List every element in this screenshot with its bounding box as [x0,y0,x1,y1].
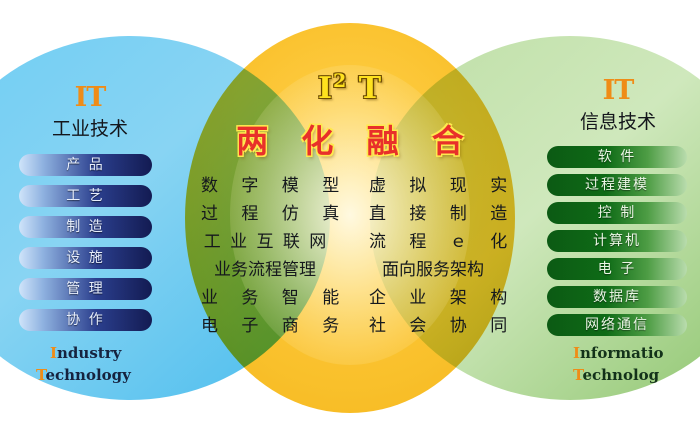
left-en-line2-rest: echnology [45,366,130,384]
pill-label: 设 施 [66,251,104,265]
center-item: 工 业 互 联 网 [192,228,338,256]
list-item[interactable]: 计算机 [547,230,687,252]
center-item: 企 业 架 构 [360,284,506,312]
left-en-line1: Industry [50,344,121,362]
list-item[interactable]: 工 艺 [19,185,152,207]
pill-label: 电 子 [598,262,636,276]
pill-label: 协 作 [66,313,104,327]
left-en-line2: Technology [36,366,131,384]
pill-label: 制 造 [66,220,104,234]
center-i2t-t: T [359,71,382,106]
pill-label: 计算机 [593,234,641,248]
right-en-line1: Informatio [573,344,664,362]
center-right-column: 虚 拟 现 实 直 接 制 造 流 程 ｅ 化 面向服务架构 企 业 架 构 社… [360,172,506,340]
pill-label: 过程建模 [585,178,649,192]
list-item[interactable]: 数据库 [547,286,687,308]
list-item[interactable]: 过程建模 [547,174,687,196]
right-en-line2: Technolog [573,366,659,384]
center-item: 虚 拟 现 实 [360,172,506,200]
center-main-title: 两 化 融 合 [0,116,700,162]
pill-label: 控 制 [598,206,636,220]
left-en-line1-rest: ndustry [57,344,121,362]
center-left-column: 数 字 模 型 过 程 仿 真 工 业 互 联 网 业务流程管理 业 务 智 能… [192,172,338,340]
center-item: 业务流程管理 [192,256,338,284]
center-i2t-superscript: 2 [333,70,347,92]
pill-label: 数据库 [593,290,641,304]
center-item: 过 程 仿 真 [192,200,338,228]
center-item: 数 字 模 型 [192,172,338,200]
list-item[interactable]: 设 施 [19,247,152,269]
list-item[interactable]: 控 制 [547,202,687,224]
right-en-line2-rest: echnolog [582,366,659,384]
list-item[interactable]: 管 理 [19,278,152,300]
center-item: 流 程 ｅ 化 [360,228,506,256]
center-item: 面向服务架构 [360,256,506,284]
venn-diagram-canvas: IT 工业技术 产 品 工 艺 制 造 设 施 管 理 协 作 Industry… [0,0,700,436]
list-item[interactable]: 制 造 [19,216,152,238]
pill-label: 管 理 [66,282,104,296]
center-item: 直 接 制 造 [360,200,506,228]
right-en-line1-cap: I [573,344,580,362]
center-item: 电 子 商 务 [192,312,338,340]
left-en-line1-cap: I [50,344,57,362]
center-item: 业 务 智 能 [192,284,338,312]
right-en-line1-rest: nformatio [580,344,664,362]
center-i2t-title: I2 T [0,70,700,106]
pill-label: 工 艺 [66,189,104,203]
center-i2t-i: I [318,71,333,106]
list-item[interactable]: 协 作 [19,309,152,331]
list-item[interactable]: 网络通信 [547,314,687,336]
pill-label: 网络通信 [585,318,649,332]
list-item[interactable]: 电 子 [547,258,687,280]
center-item: 社 会 协 同 [360,312,506,340]
